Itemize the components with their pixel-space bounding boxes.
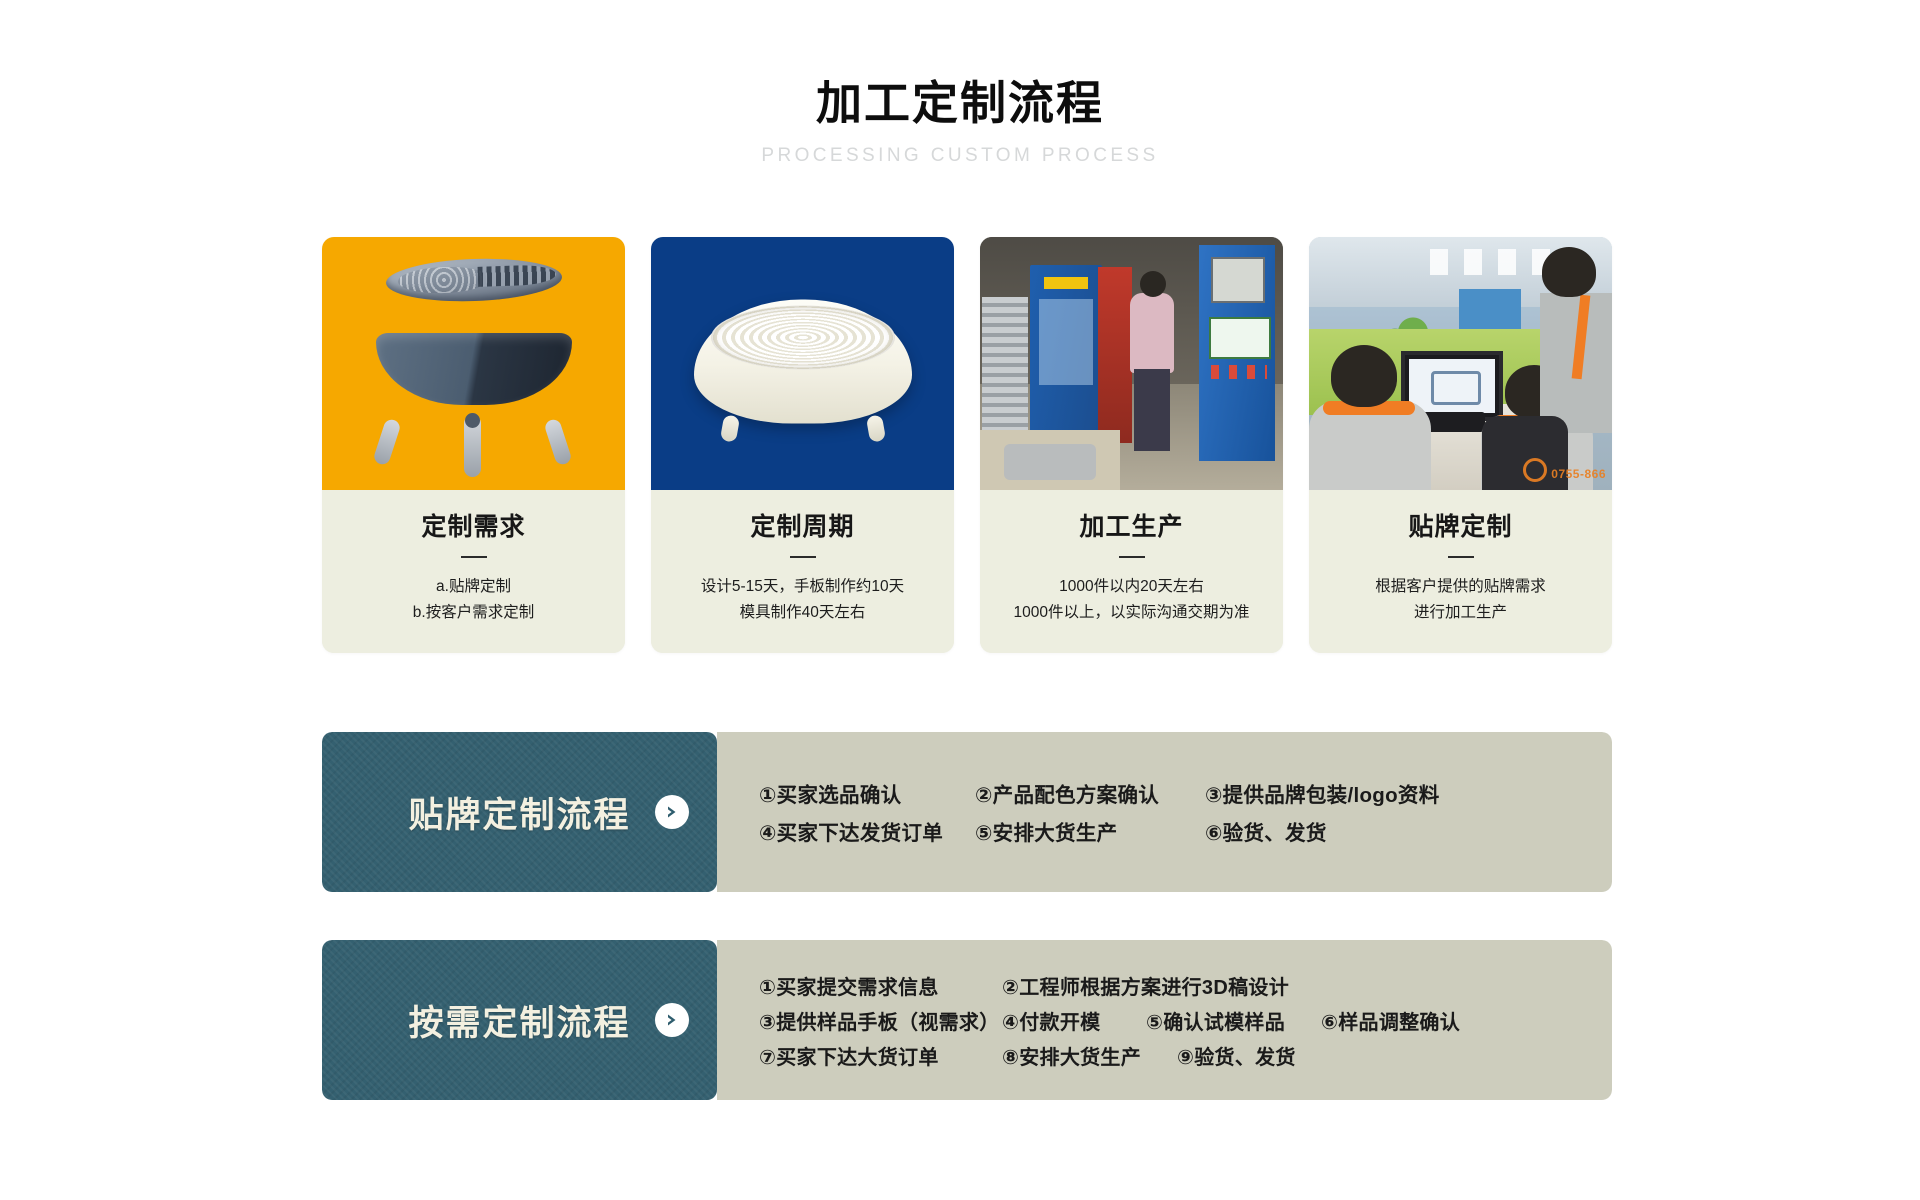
worker-head bbox=[1140, 271, 1166, 297]
chevron-right-icon[interactable] bbox=[655, 795, 689, 829]
factory-production-photo bbox=[980, 237, 1283, 490]
desc-line: 模具制作40天左右 bbox=[661, 600, 944, 626]
process-card-desc: 1000件以内20天左右 1000件以上，以实际沟通交期为准 bbox=[990, 574, 1273, 625]
flow-step: ②产品配色方案确认 bbox=[975, 778, 1205, 808]
flow-step: ⑧安排大货生产 bbox=[1002, 1041, 1177, 1070]
flow-row: ⑦买家下达大货订单 ⑧安排大货生产 ⑨验货、发货 bbox=[759, 1041, 1612, 1070]
watermark-ring-icon bbox=[1523, 458, 1547, 482]
title-divider bbox=[1448, 556, 1474, 558]
office-scene: 0755-866 bbox=[1309, 237, 1612, 490]
ondemand-flow-steps: ①买家提交需求信息 ②工程师根据方案进行3D稿设计 ③提供样品手板（视需求） ④… bbox=[717, 940, 1612, 1100]
flow-step: ⑤确认试模样品 bbox=[1146, 1006, 1321, 1035]
chevron-right-icon[interactable] bbox=[655, 1003, 689, 1037]
process-card-body: 贴牌定制 根据客户提供的贴牌需求 进行加工生产 bbox=[1309, 490, 1612, 653]
flow-step: ③提供样品手板（视需求） bbox=[759, 1006, 1002, 1035]
title-divider bbox=[461, 556, 487, 558]
flow-step: ④付款开模 bbox=[1002, 1006, 1146, 1035]
flow-step: ②工程师根据方案进行3D稿设计 bbox=[1002, 971, 1289, 1000]
product-leg-right bbox=[543, 418, 572, 467]
oem-flow-steps: ①买家选品确认 ②产品配色方案确认 ③提供品牌包装/logo资料 ④买家下达发货… bbox=[717, 732, 1612, 892]
engineer-right-head bbox=[1542, 247, 1596, 297]
red-press-column bbox=[1098, 267, 1132, 443]
machine-screen-top bbox=[1211, 257, 1265, 303]
desc-line: a.贴牌定制 bbox=[332, 574, 615, 600]
desc-line: 根据客户提供的贴牌需求 bbox=[1319, 574, 1602, 600]
flow-step: ⑦买家下达大货订单 bbox=[759, 1041, 1002, 1070]
flow-row: ①买家选品确认 ②产品配色方案确认 ③提供品牌包装/logo资料 bbox=[759, 778, 1612, 808]
design-office-photo: 0755-866 bbox=[1309, 237, 1612, 490]
desc-line: 1000件以内20天左右 bbox=[990, 574, 1273, 600]
flow-step: ①买家提交需求信息 bbox=[759, 971, 1002, 1000]
flow-step: ③提供品牌包装/logo资料 bbox=[1205, 778, 1440, 808]
flow-step: ①买家选品确认 bbox=[759, 778, 975, 808]
ondemand-flow-banner: 按需定制流程 ①买家提交需求信息 ②工程师根据方案进行3D稿设计 ③提供样品手板… bbox=[322, 940, 1612, 1100]
product-leg-center bbox=[464, 415, 481, 477]
process-card-title: 定制需求 bbox=[332, 512, 615, 542]
process-card-body: 加工生产 1000件以内20天左右 1000件以上，以实际沟通交期为准 bbox=[980, 490, 1283, 653]
flow-step: ⑥样品调整确认 bbox=[1321, 1006, 1460, 1035]
process-card-desc: 根据客户提供的贴牌需求 进行加工生产 bbox=[1319, 574, 1602, 625]
oem-flow-label[interactable]: 贴牌定制流程 bbox=[322, 732, 717, 892]
process-card-list: 定制需求 a.贴牌定制 b.按客户需求定制 定制周期 bbox=[322, 237, 1612, 653]
desc-line: 设计5-15天，手板制作约10天 bbox=[661, 574, 944, 600]
machine-buttons bbox=[1211, 365, 1267, 379]
factory-scene bbox=[980, 237, 1283, 490]
flow-row: ④买家下达发货订单 ⑤安排大货生产 ⑥验货、发货 bbox=[759, 816, 1612, 846]
ondemand-flow-label-text: 按需定制流程 bbox=[408, 995, 630, 1046]
flow-step: ④买家下达发货订单 bbox=[759, 816, 975, 846]
process-card-desc: 设计5-15天，手板制作约10天 模具制作40天左右 bbox=[661, 574, 944, 625]
custom-process-page: 加工定制流程 PROCESSING CUSTOM PROCESS 定制需求 a.… bbox=[0, 0, 1920, 1200]
photo-watermark: 0755-866 bbox=[1523, 458, 1606, 482]
worker-torso bbox=[1130, 293, 1174, 373]
desc-line: b.按客户需求定制 bbox=[332, 600, 615, 626]
flow-row: ③提供样品手板（视需求） ④付款开模 ⑤确认试模样品 ⑥样品调整确认 bbox=[759, 1006, 1612, 1035]
prototype-foot-left bbox=[719, 414, 739, 442]
process-card[interactable]: 定制周期 设计5-15天，手板制作约10天 模具制作40天左右 bbox=[651, 237, 954, 653]
process-card-desc: a.贴牌定制 b.按客户需求定制 bbox=[332, 574, 615, 625]
worker-legs bbox=[1134, 369, 1170, 451]
engineer-left-head bbox=[1331, 345, 1397, 407]
machine-screen-bottom bbox=[1209, 317, 1271, 359]
product-bowl-shape bbox=[376, 333, 572, 405]
blue-machine-right bbox=[1199, 245, 1275, 461]
process-card-title: 贴牌定制 bbox=[1319, 512, 1602, 542]
exploded-product-illustration bbox=[322, 237, 625, 490]
flow-step: ⑨验货、发货 bbox=[1177, 1041, 1296, 1070]
process-card-body: 定制需求 a.贴牌定制 b.按客户需求定制 bbox=[322, 490, 625, 653]
blue-machine-left bbox=[1030, 265, 1102, 445]
page-subtitle: PROCESSING CUSTOM PROCESS bbox=[0, 145, 1920, 167]
watermark-text: 0755-866 bbox=[1551, 467, 1606, 481]
process-card-title: 定制周期 bbox=[661, 512, 944, 542]
process-card[interactable]: 加工生产 1000件以内20天左右 1000件以上，以实际沟通交期为准 bbox=[980, 237, 1283, 653]
flow-row: ①买家提交需求信息 ②工程师根据方案进行3D稿设计 bbox=[759, 971, 1612, 1000]
molded-part bbox=[1004, 444, 1096, 480]
prototype-bowl-shape bbox=[694, 299, 912, 423]
flow-step: ⑥验货、发货 bbox=[1205, 816, 1327, 846]
oem-flow-banner: 贴牌定制流程 ①买家选品确认 ②产品配色方案确认 ③提供品牌包装/logo资料 … bbox=[322, 732, 1612, 892]
prototype-foot-right bbox=[865, 414, 885, 442]
process-card[interactable]: 0755-866 贴牌定制 根据客户提供的贴牌需求 进行加工生产 bbox=[1309, 237, 1612, 653]
process-card-body: 定制周期 设计5-15天，手板制作约10天 模具制作40天左右 bbox=[651, 490, 954, 653]
flow-step: ⑤安排大货生产 bbox=[975, 816, 1205, 846]
ondemand-flow-label[interactable]: 按需定制流程 bbox=[322, 940, 717, 1100]
stacked-parts bbox=[982, 297, 1028, 447]
prototype-maze-top bbox=[711, 305, 895, 369]
title-divider bbox=[790, 556, 816, 558]
process-card[interactable]: 定制需求 a.贴牌定制 b.按客户需求定制 bbox=[322, 237, 625, 653]
product-leg-left bbox=[372, 418, 401, 467]
desc-line: 1000件以上，以实际沟通交期为准 bbox=[990, 600, 1273, 626]
title-divider bbox=[1119, 556, 1145, 558]
page-title: 加工定制流程 bbox=[0, 78, 1920, 129]
desc-line: 进行加工生产 bbox=[1319, 600, 1602, 626]
product-lid-shape bbox=[385, 256, 562, 304]
process-card-title: 加工生产 bbox=[990, 512, 1273, 542]
white-prototype-photo bbox=[651, 237, 954, 490]
page-header: 加工定制流程 PROCESSING CUSTOM PROCESS bbox=[0, 78, 1920, 167]
oem-flow-label-text: 贴牌定制流程 bbox=[408, 787, 630, 838]
